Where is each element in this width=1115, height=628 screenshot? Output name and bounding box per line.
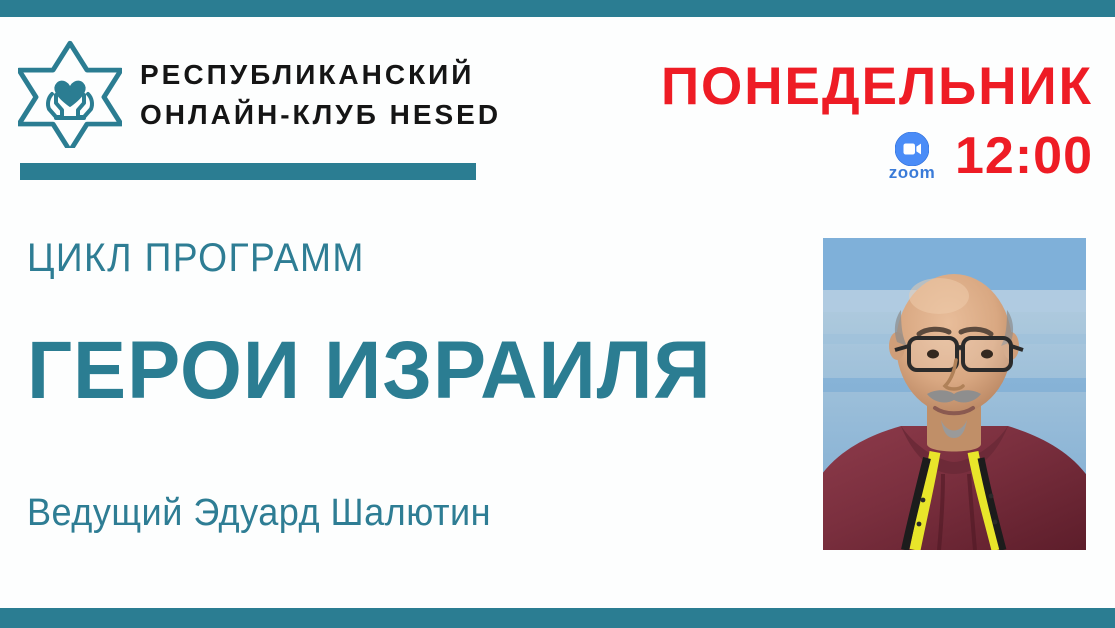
schedule-time-row: zoom 12:00 [883,130,1093,182]
brand-wordmark: РЕСПУБЛИКАНСКИЙ ОНЛАЙН-КЛУБ HESED [140,52,501,134]
zoom-wordmark: zoom [889,164,935,181]
brand-line-1: РЕСПУБЛИКАНСКИЙ [140,56,501,94]
zoom-video-camera-icon [895,132,929,166]
series-label: ЦИКЛ ПРОГРАММ [27,238,365,278]
presenter-photo [823,238,1086,550]
weekday-label: ПОНЕДЕЛЬНИК [661,60,1093,113]
logo-divider-bar [20,163,476,180]
brand-logo-block: РЕСПУБЛИКАНСКИЙ ОНЛАЙН-КЛУБ HESED [18,38,501,148]
presenter-label: Ведущий Эдуард Шалютин [27,494,491,532]
top-accent-bar [0,0,1115,17]
bottom-accent-bar [0,608,1115,628]
poster-canvas: РЕСПУБЛИКАНСКИЙ ОНЛАЙН-КЛУБ HESED ПОНЕДЕ… [0,0,1115,628]
page-title: ГЕРОИ ИЗРАИЛЯ [27,330,712,412]
zoom-platform-logo: zoom [883,132,941,181]
start-time: 12:00 [955,130,1093,182]
brand-line-2: ОНЛАЙН-КЛУБ HESED [140,96,501,134]
star-of-david-heart-hands-icon [18,38,122,148]
